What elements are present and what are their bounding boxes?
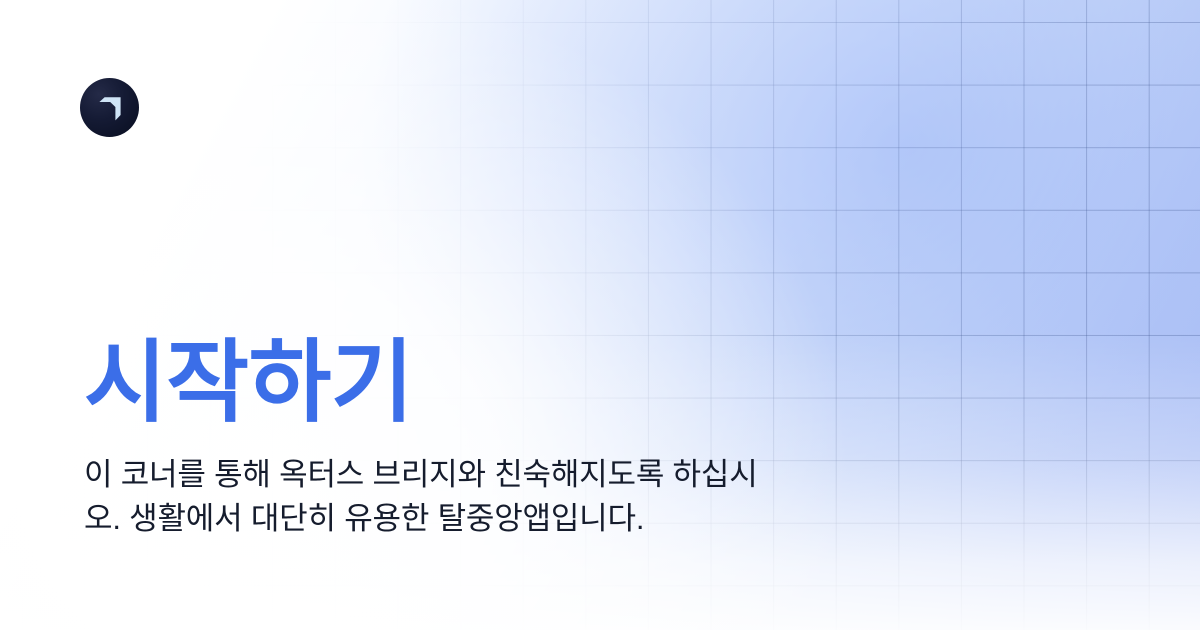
og-card: 시작하기 이 코너를 통해 옥터스 브리지와 친숙해지도록 하십시오. 생활에서…: [0, 0, 1200, 630]
hero-content: 시작하기 이 코너를 통해 옥터스 브리지와 친숙해지도록 하십시오. 생활에서…: [84, 336, 984, 542]
brand-logo: [80, 78, 139, 137]
arrow-up-right-logo-icon: [95, 93, 125, 123]
page-title: 시작하기: [84, 336, 984, 431]
page-subtitle: 이 코너를 통해 옥터스 브리지와 친숙해지도록 하십시오. 생활에서 대단히 …: [84, 453, 784, 542]
